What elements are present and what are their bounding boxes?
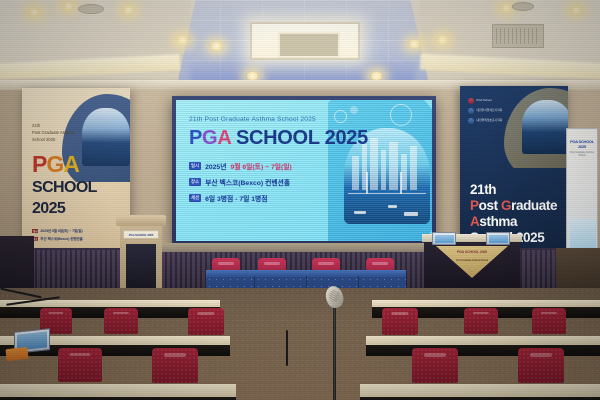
downlight bbox=[210, 42, 223, 50]
banner-left-pga-a: A bbox=[63, 151, 79, 177]
audience-chair bbox=[532, 308, 566, 334]
info-date-value: 9월 6일(토) ~ 7일(일) bbox=[230, 161, 291, 171]
ceiling-speaker bbox=[512, 2, 534, 11]
banner-left-eyebrow-2: Post Graduate Asthma bbox=[32, 129, 124, 136]
lectern-top-surface bbox=[116, 215, 166, 226]
banner-right-artwork bbox=[504, 88, 568, 168]
banner-right-line-2: Post Graduate bbox=[470, 198, 566, 214]
banner-left-text-block: 21th Post Graduate Asthma School 2025 PG… bbox=[32, 122, 124, 244]
banner-right-mid: ost bbox=[479, 198, 501, 213]
banner-right-line-1: 21th bbox=[470, 182, 566, 198]
slide-title-g: G bbox=[202, 127, 217, 149]
info-tag-venue: 장소 bbox=[189, 178, 201, 186]
audience-chair bbox=[412, 348, 458, 383]
info-date-prefix: 2025년 bbox=[205, 161, 226, 171]
orange-bag bbox=[5, 347, 28, 361]
audience-chair bbox=[58, 348, 102, 382]
desk-row bbox=[366, 336, 600, 348]
banner-left-info-list: 일시 2025년 9월 6일(토) ~ 7일(일) 장소 부산 벡스코(Bexc… bbox=[32, 228, 124, 241]
building bbox=[370, 138, 378, 190]
downlight bbox=[28, 8, 41, 16]
logo-mark-icon bbox=[468, 108, 474, 114]
audience-chair bbox=[104, 308, 138, 334]
banner-right-hl-a: A bbox=[470, 214, 479, 229]
organization-logo: 대한천식알레르기학회 bbox=[468, 108, 502, 114]
ceiling bbox=[0, 0, 600, 92]
stage-platform-edge bbox=[150, 243, 470, 252]
building bbox=[410, 146, 417, 190]
slide-title-a: A bbox=[217, 127, 230, 149]
banner-left: 21th Post Graduate Asthma School 2025 PG… bbox=[22, 88, 130, 274]
laptop-screen bbox=[435, 235, 454, 243]
audience-chair bbox=[464, 308, 498, 334]
water-area bbox=[344, 194, 430, 224]
info-tag-date: 일시 bbox=[189, 162, 201, 170]
lectern-sign: PGA SCHOOL 2025 bbox=[123, 230, 159, 239]
slide-title-p: P bbox=[189, 127, 202, 149]
organization-logo: 대한결핵및호흡기학회 bbox=[468, 118, 502, 124]
slide-eyebrow: 21th Post Graduate Asthma School 2025 bbox=[189, 116, 353, 123]
bridge-tower bbox=[400, 172, 402, 196]
logo-label: PGA School bbox=[477, 99, 492, 102]
banner-left-pga: PGA bbox=[32, 153, 124, 176]
logo-mark-icon bbox=[468, 118, 474, 124]
building bbox=[389, 142, 398, 190]
downlight bbox=[570, 6, 583, 14]
slide-info-row-venue: 장소 부산 벡스코(Bexco) 컨벤션홀 bbox=[189, 177, 353, 187]
standee-subtitle: Post Graduate Asthma School bbox=[567, 151, 597, 157]
slide-info-row-date: 일시 2025년 9월 6일(토) ~ 7일(일) bbox=[189, 161, 353, 171]
downlight bbox=[62, 2, 75, 10]
boat bbox=[388, 205, 397, 208]
banner-left-date: 2025년 9월 6일(토) ~ 7일(일) bbox=[40, 228, 82, 233]
downlight bbox=[122, 6, 135, 14]
standee-title: PGA SCHOOL 2025 bbox=[567, 139, 597, 149]
info-session-value: 6일 3병점 - 7일 1병점 bbox=[205, 193, 267, 203]
info-venue-value: 부산 벡스코(Bexco) 컨벤션홀 bbox=[205, 177, 290, 187]
downlight bbox=[436, 36, 449, 44]
audience-chair bbox=[152, 348, 198, 383]
banner-right-cityscape bbox=[522, 100, 568, 154]
organization-logo: PGA School bbox=[468, 98, 502, 104]
slide-text-block: 21th Post Graduate Asthma School 2025 PG… bbox=[189, 116, 353, 209]
building bbox=[381, 150, 386, 190]
decorative-circle bbox=[390, 104, 412, 126]
led-screen-frame: 21th Post Graduate Asthma School 2025 PG… bbox=[172, 96, 436, 248]
banner-right-line-3: Asthma bbox=[470, 214, 566, 230]
downlight bbox=[370, 72, 383, 80]
chair-texture bbox=[412, 348, 458, 383]
laptop-screen bbox=[489, 235, 508, 243]
ceiling-air-vent bbox=[492, 24, 544, 48]
banner-right-hl-p: P bbox=[470, 198, 479, 213]
logo-mark-icon bbox=[468, 98, 474, 104]
banner-right-asthma: sthma bbox=[479, 214, 517, 229]
microphone-stand bbox=[333, 300, 336, 400]
audience-chair bbox=[188, 308, 224, 335]
laptop[interactable] bbox=[432, 232, 456, 245]
mic-cable bbox=[286, 330, 288, 366]
decorative-circle bbox=[350, 106, 358, 114]
slide-title-rest: SCHOOL 2025 bbox=[231, 127, 368, 149]
audience-chair bbox=[518, 348, 564, 383]
banner-right-post: raduate bbox=[511, 198, 557, 213]
ceiling-speaker bbox=[78, 4, 104, 14]
info-tag-session: 세션 bbox=[189, 194, 201, 202]
logo-label: 대한천식알레르기학회 bbox=[477, 109, 503, 112]
chair-texture bbox=[518, 348, 564, 383]
banner-left-year: 2025 bbox=[32, 201, 124, 218]
vent-louvers bbox=[496, 28, 540, 44]
chair-texture bbox=[58, 348, 102, 382]
lectern-front-panel bbox=[126, 244, 156, 290]
conference-hall-photo: 21th Post Graduate Asthma School 2025 PG… bbox=[0, 0, 600, 400]
banner-right-logo-list: PGA School 대한천식알레르기학회 대한결핵및호흡기학회 bbox=[468, 98, 502, 128]
center-light-fixture bbox=[250, 22, 360, 60]
building bbox=[352, 156, 359, 190]
desk-gold-banner: PGA SCHOOL 2025 Post Graduate Asthma Sch… bbox=[436, 246, 508, 278]
desk-row bbox=[360, 384, 600, 400]
desk-banner-sub: Post Graduate Asthma School bbox=[436, 259, 508, 262]
slide-title: PGA SCHOOL 2025 bbox=[189, 128, 353, 148]
boat bbox=[354, 211, 366, 214]
slide-info-row-session: 세션 6일 3병점 - 7일 1병점 bbox=[189, 193, 353, 203]
banner-left-pga-p: P bbox=[32, 151, 46, 177]
bridge-tower bbox=[366, 172, 368, 196]
chair-texture bbox=[188, 308, 224, 335]
banner-left-eyebrow-3: School 2025 bbox=[32, 136, 124, 143]
banner-left-eyebrow-1: 21th bbox=[32, 122, 124, 129]
slide-info-list: 일시 2025년 9월 6일(토) ~ 7일(일) 장소 부산 벡스코(Bexc… bbox=[189, 161, 353, 203]
laptop[interactable] bbox=[486, 232, 510, 245]
audience-chair bbox=[382, 308, 418, 335]
downlight bbox=[246, 72, 259, 80]
banner-left-info-row-venue: 장소 부산 벡스코(Bexco) 컨벤션홀 bbox=[32, 236, 124, 241]
banner-left-school: SCHOOL bbox=[32, 180, 124, 197]
logo-label: 대한결핵및호흡기학회 bbox=[477, 119, 503, 122]
chair-texture bbox=[104, 308, 138, 334]
banner-left-info-row-date: 일시 2025년 9월 6일(토) ~ 7일(일) bbox=[32, 228, 124, 233]
downlight bbox=[408, 40, 421, 48]
chair-texture bbox=[532, 308, 566, 334]
presentation-slide: 21th Post Graduate Asthma School 2025 PG… bbox=[176, 100, 432, 241]
banner-left-pga-g: G bbox=[46, 151, 63, 177]
chair-texture bbox=[152, 348, 198, 383]
boat bbox=[404, 212, 418, 216]
chair-texture bbox=[464, 308, 498, 334]
banner-left-venue: 부산 벡스코(Bexco) 컨벤션홀 bbox=[40, 236, 82, 241]
downlight bbox=[176, 36, 189, 44]
banner-right-hl-g: G bbox=[501, 198, 511, 213]
desk-row bbox=[0, 384, 236, 400]
banner-left-tag-date: 일시 bbox=[32, 229, 38, 233]
lectern: PGA SCHOOL 2025 bbox=[120, 222, 162, 294]
chair-texture bbox=[382, 308, 418, 335]
desk-banner-title: PGA SCHOOL 2025 bbox=[457, 250, 487, 254]
